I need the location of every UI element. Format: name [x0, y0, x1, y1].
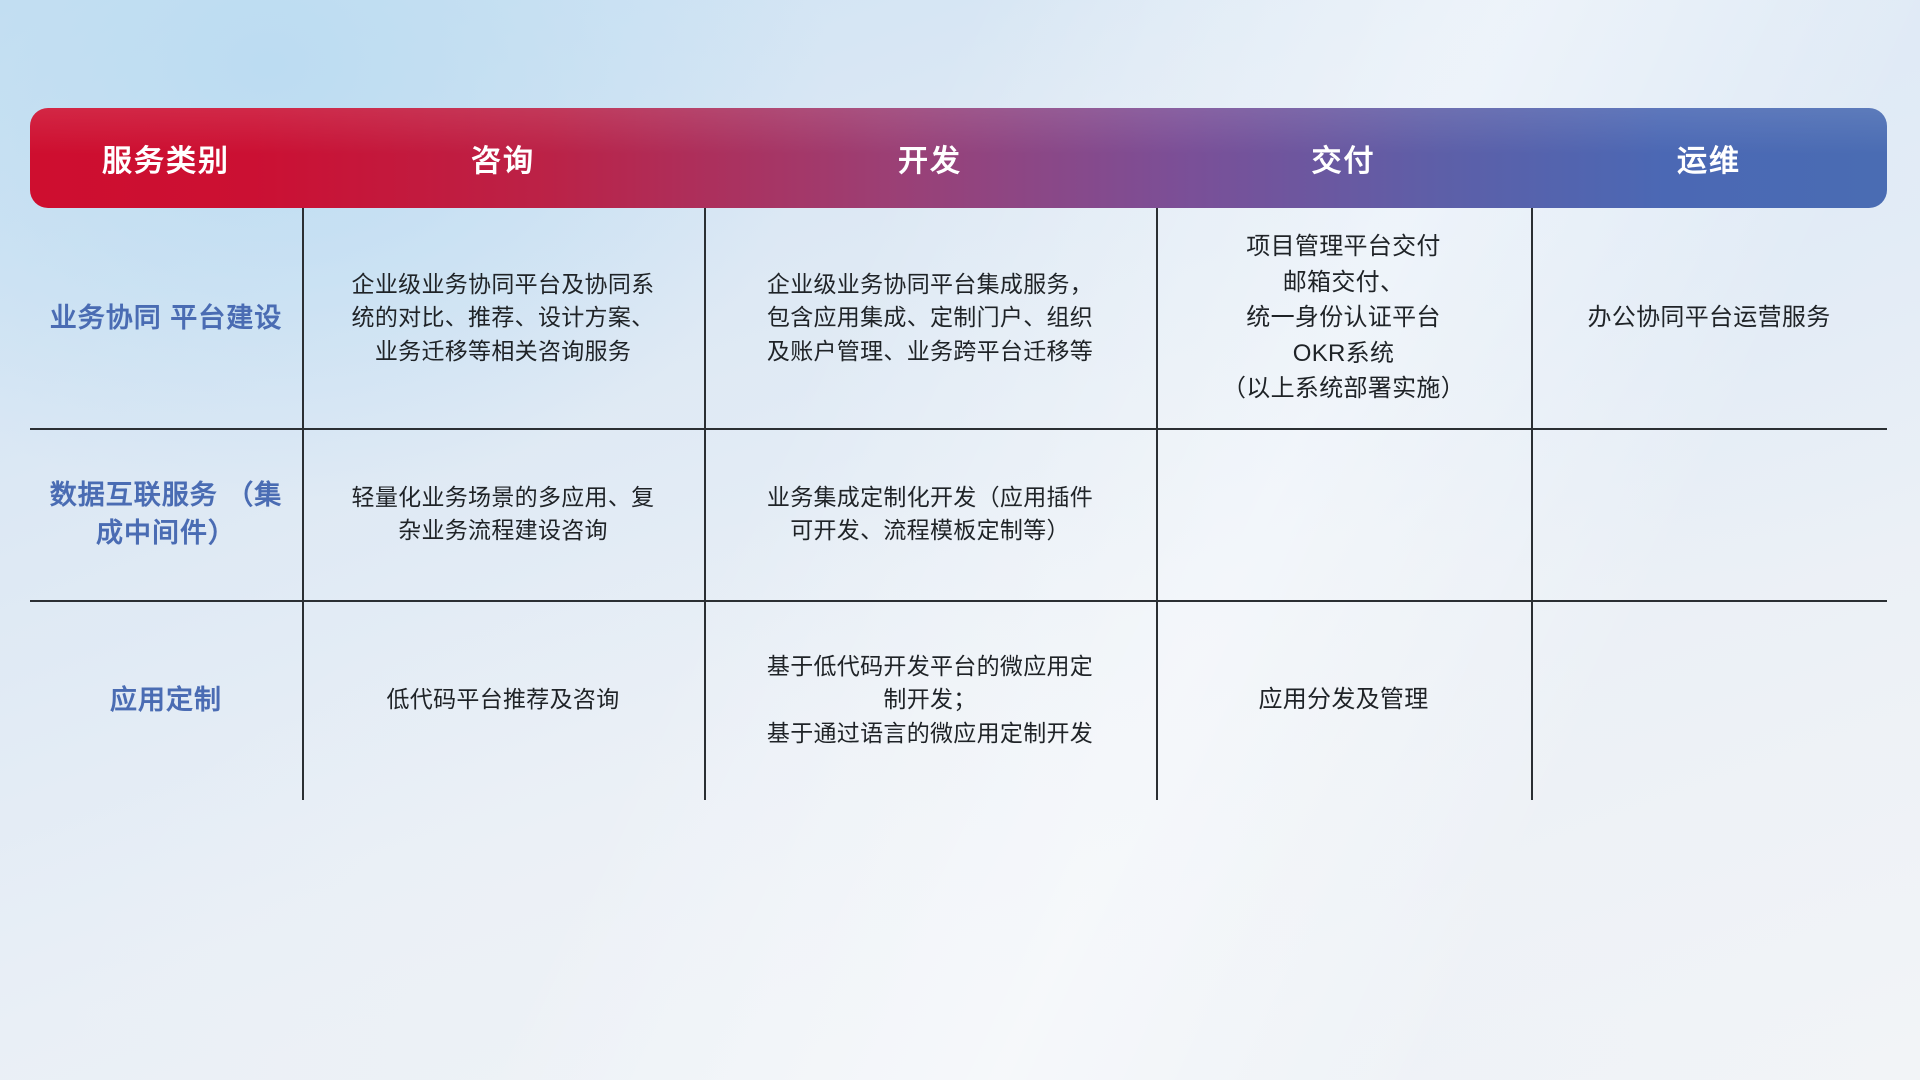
cell-delivery: [1156, 428, 1531, 600]
column-header-consulting: 咨询: [302, 136, 704, 180]
cell-development: 基于低代码开发平台的微应用定 制开发； 基于通过语言的微应用定制开发: [704, 600, 1156, 800]
cell-consulting: 轻量化业务场景的多应用、复 杂业务流程建设咨询: [302, 428, 704, 600]
column-header-service-category: 服务类别: [30, 136, 302, 180]
cell-consulting: 低代码平台推荐及咨询: [302, 600, 704, 800]
cell-text: 企业级业务协同平台及协同系 统的对比、推荐、设计方案、 业务迁移等相关咨询服务: [352, 268, 655, 367]
cell-text: 办公协同平台运营服务: [1588, 300, 1831, 336]
table-row: 业务协同 平台建设 企业级业务协同平台及协同系 统的对比、推荐、设计方案、 业务…: [30, 208, 1887, 428]
row-category-label: 业务协同 平台建设: [50, 299, 283, 337]
table-row: 数据互联服务 （集成中间件） 轻量化业务场景的多应用、复 杂业务流程建设咨询 业…: [30, 428, 1887, 600]
cell-consulting: 企业级业务协同平台及协同系 统的对比、推荐、设计方案、 业务迁移等相关咨询服务: [302, 208, 704, 428]
service-matrix-table: 服务类别 咨询 开发 交付 运维 业务协同 平台建设 企业级业务协同平台及协同系…: [30, 108, 1887, 780]
table-row: 应用定制 低代码平台推荐及咨询 基于低代码开发平台的微应用定 制开发； 基于通过…: [30, 600, 1887, 800]
table-body: 业务协同 平台建设 企业级业务协同平台及协同系 统的对比、推荐、设计方案、 业务…: [30, 208, 1887, 800]
cell-text: 轻量化业务场景的多应用、复 杂业务流程建设咨询: [352, 481, 655, 547]
column-header-delivery: 交付: [1156, 136, 1531, 180]
cell-text: 项目管理平台交付 邮箱交付、 统一身份认证平台 OKR系统 （以上系统部署实施）: [1222, 229, 1465, 407]
cell-delivery: 项目管理平台交付 邮箱交付、 统一身份认证平台 OKR系统 （以上系统部署实施）: [1156, 208, 1531, 428]
cell-development: 业务集成定制化开发（应用插件 可开发、流程模板定制等）: [704, 428, 1156, 600]
cell-text: 业务集成定制化开发（应用插件 可开发、流程模板定制等）: [767, 481, 1093, 547]
column-header-operations: 运维: [1531, 136, 1887, 180]
cell-text: 低代码平台推荐及咨询: [387, 683, 620, 716]
column-header-development: 开发: [704, 136, 1156, 180]
cell-operations: [1531, 600, 1887, 800]
cell-delivery: 应用分发及管理: [1156, 600, 1531, 800]
row-category-cell: 应用定制: [30, 600, 302, 800]
row-category-cell: 业务协同 平台建设: [30, 208, 302, 428]
cell-operations: 办公协同平台运营服务: [1531, 208, 1887, 428]
row-category-label: 数据互联服务 （集成中间件）: [44, 476, 288, 553]
cell-text: 应用分发及管理: [1258, 682, 1428, 718]
row-category-cell: 数据互联服务 （集成中间件）: [30, 428, 302, 600]
table-header-row: 服务类别 咨询 开发 交付 运维: [30, 108, 1887, 208]
cell-operations: [1531, 428, 1887, 600]
row-category-label: 应用定制: [110, 681, 222, 719]
cell-development: 企业级业务协同平台集成服务， 包含应用集成、定制门户、组织 及账户管理、业务跨平…: [704, 208, 1156, 428]
cell-text: 基于低代码开发平台的微应用定 制开发； 基于通过语言的微应用定制开发: [767, 650, 1093, 749]
cell-text: 企业级业务协同平台集成服务， 包含应用集成、定制门户、组织 及账户管理、业务跨平…: [767, 268, 1093, 367]
